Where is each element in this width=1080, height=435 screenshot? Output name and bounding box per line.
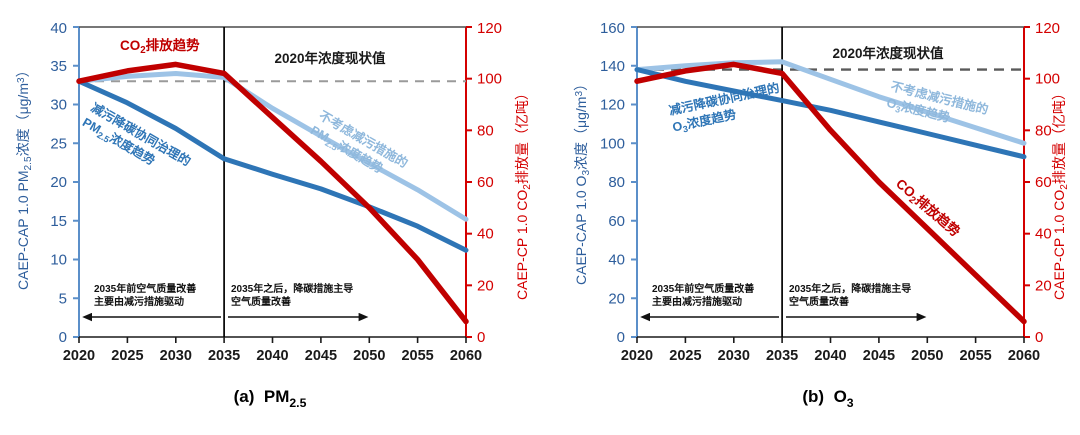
x-tick-label: 2060: [1008, 348, 1040, 364]
label-dark-blue-series: 减污降碳协同治理的 PM2.5浓度趋势: [79, 100, 193, 186]
note-right-line2: 空气质量改善: [789, 295, 849, 308]
left-axis-title-p4: ）: [15, 63, 31, 77]
caption-main: PM: [264, 387, 290, 406]
label-baseline-2020: 2020年浓度现状值: [274, 50, 386, 66]
right-axis-title-p2: 排放量（亿吨）: [1051, 86, 1067, 184]
left-axis-title-p4: ）: [573, 77, 589, 91]
left-tick-label: 35: [50, 58, 67, 75]
left-tick-label: 160: [600, 20, 625, 37]
panel-a-svg: 0 5 10 15 20 25 30 35 40 0 20 40: [0, 0, 540, 435]
left-tick-label: 5: [59, 290, 67, 307]
left-tick-label: 120: [600, 97, 625, 114]
left-tick-label: 60: [608, 213, 625, 230]
x-tick-label: 2045: [305, 348, 337, 364]
note-right-block: 2035年之后，降碳措施主导 空气质量改善: [228, 282, 360, 317]
left-tick-labels: 0 5 10 15 20 25 30 35 40: [50, 20, 67, 346]
left-tick-label: 40: [608, 252, 625, 269]
chart-panel-o3: 0 20 40 60 80 100 120 140 160 0 20 40 6: [540, 0, 1080, 435]
right-tick-label: 80: [477, 122, 494, 139]
x-tick-label: 2025: [111, 348, 143, 364]
x-tick-label: 2055: [959, 348, 991, 364]
note-right-line2: 空气质量改善: [231, 295, 291, 308]
x-tick-labels: 2020 2025 2030 2035 2040 2045 2050 2055 …: [63, 348, 482, 364]
right-tick-label: 100: [1035, 71, 1060, 88]
x-tick-label: 2055: [401, 348, 433, 364]
chart-panel-pm25: 0 5 10 15 20 25 30 35 40 0 20 40: [0, 0, 540, 435]
right-tick-label: 120: [1035, 20, 1060, 37]
left-axis-title-p2: 浓度（μg/m: [15, 83, 31, 156]
x-tick-label: 2045: [863, 348, 895, 364]
figure-root: 0 5 10 15 20 25 30 35 40 0 20 40: [0, 0, 1080, 435]
caption-main: O: [834, 387, 847, 406]
label-co2-p0: CO: [120, 38, 140, 53]
left-tick-label: 20: [50, 174, 67, 191]
left-tick-label: 80: [608, 174, 625, 191]
note-left-line2: 主要由减污措施驱动: [94, 295, 184, 308]
left-axis-title-p0: CAEP-CAP 1.0 O: [573, 175, 589, 285]
x-tick-marks: [79, 337, 466, 343]
panel-caption-b: (b) O3: [802, 387, 853, 410]
left-axis-title: CAEP-CAP 1.0 O3浓度（μg/m3）: [573, 77, 592, 285]
caption-prefix: (a): [234, 387, 255, 406]
left-tick-label: 0: [59, 329, 67, 346]
left-tick-label: 0: [617, 329, 625, 346]
caption-sub: 2.5: [289, 396, 306, 410]
left-tick-label: 140: [600, 58, 625, 75]
right-axis-title: CAEP-CP 1.0 CO2排放量（亿吨）: [1051, 86, 1070, 300]
left-axis-title: CAEP-CAP 1.0 PM2.5浓度（μg/m3）: [15, 63, 34, 290]
series-line-co2-red: [79, 64, 466, 321]
left-axis-title-p2: 浓度（μg/m: [573, 97, 589, 170]
left-tick-label: 25: [50, 135, 67, 152]
left-tick-labels: 0 20 40 60 80 100 120 140 160: [600, 20, 625, 346]
x-tick-label: 2035: [208, 348, 240, 364]
label-co2-p2: 排放趋势: [912, 192, 964, 240]
left-tick-label: 15: [50, 213, 67, 230]
note-left-line2: 主要由减污措施驱动: [652, 295, 742, 308]
right-tick-label: 20: [477, 277, 494, 294]
left-tick-label: 30: [50, 97, 67, 114]
caption-sub: 3: [847, 396, 854, 410]
x-tick-label: 2060: [450, 348, 482, 364]
note-left-line1: 2035年前空气质量改善: [652, 282, 754, 295]
right-tick-label: 0: [1035, 329, 1043, 346]
right-tick-label: 0: [477, 329, 485, 346]
right-tick-label: 20: [1035, 277, 1052, 294]
note-left-block: 2035年前空气质量改善 主要由减污措施驱动: [92, 282, 221, 317]
panel-b-svg: 0 20 40 60 80 100 120 140 160 0 20 40 6: [540, 0, 1080, 435]
label-co2-p2: 排放趋势: [146, 37, 200, 53]
x-tick-label: 2040: [256, 348, 288, 364]
right-tick-labels: 0 20 40 60 80 100 120: [477, 20, 502, 346]
note-right-line1: 2035年之后，降碳措施主导: [231, 282, 353, 295]
x-tick-label: 2035: [766, 348, 798, 364]
left-tick-label: 100: [600, 135, 625, 152]
note-right-block: 2035年之后，降碳措施主导 空气质量改善: [786, 282, 918, 317]
x-tick-label: 2050: [353, 348, 385, 364]
left-axis-title-p0: CAEP-CAP 1.0 PM: [15, 170, 31, 290]
right-tick-label: 40: [477, 226, 494, 243]
note-left-line1: 2035年前空气质量改善: [94, 282, 196, 295]
right-tick-label: 60: [1035, 174, 1052, 191]
x-tick-label: 2020: [63, 348, 95, 364]
x-tick-label: 2030: [718, 348, 750, 364]
x-tick-marks: [637, 337, 1024, 343]
right-tick-label: 40: [1035, 226, 1052, 243]
right-tick-label: 100: [477, 71, 502, 88]
right-axis-title-p0: CAEP-CP 1.0 CO: [514, 190, 530, 300]
right-axis-title-p0: CAEP-CP 1.0 CO: [1051, 190, 1067, 300]
right-axis-title-p2: 排放量（亿吨）: [514, 86, 530, 184]
x-tick-label: 2020: [621, 348, 653, 364]
left-tick-label: 40: [50, 20, 67, 37]
x-tick-labels: 2020 2025 2030 2035 2040 2045 2050 2055 …: [621, 348, 1040, 364]
note-right-line1: 2035年之后，降碳措施主导: [789, 282, 911, 295]
left-axis-title-sub: 2.5: [23, 156, 34, 170]
right-tick-label: 60: [477, 174, 494, 191]
x-tick-label: 2030: [160, 348, 192, 364]
left-tick-label: 10: [50, 252, 67, 269]
note-left-block: 2035年前空气质量改善 主要由减污措施驱动: [650, 282, 779, 317]
right-tick-label: 80: [1035, 122, 1052, 139]
x-tick-label: 2050: [911, 348, 943, 364]
x-tick-label: 2040: [814, 348, 846, 364]
right-axis-title: CAEP-CP 1.0 CO2排放量（亿吨）: [514, 86, 533, 300]
caption-prefix: (b): [802, 387, 824, 406]
x-tick-label: 2025: [669, 348, 701, 364]
left-tick-label: 20: [608, 290, 625, 307]
label-co2-trend: CO2排放趋势: [120, 37, 200, 56]
panel-caption-a: (a) PM2.5: [234, 387, 307, 410]
right-tick-label: 120: [477, 20, 502, 37]
series-line-dark-blue: [637, 70, 1024, 157]
label-baseline-2020: 2020年浓度现状值: [832, 45, 944, 61]
